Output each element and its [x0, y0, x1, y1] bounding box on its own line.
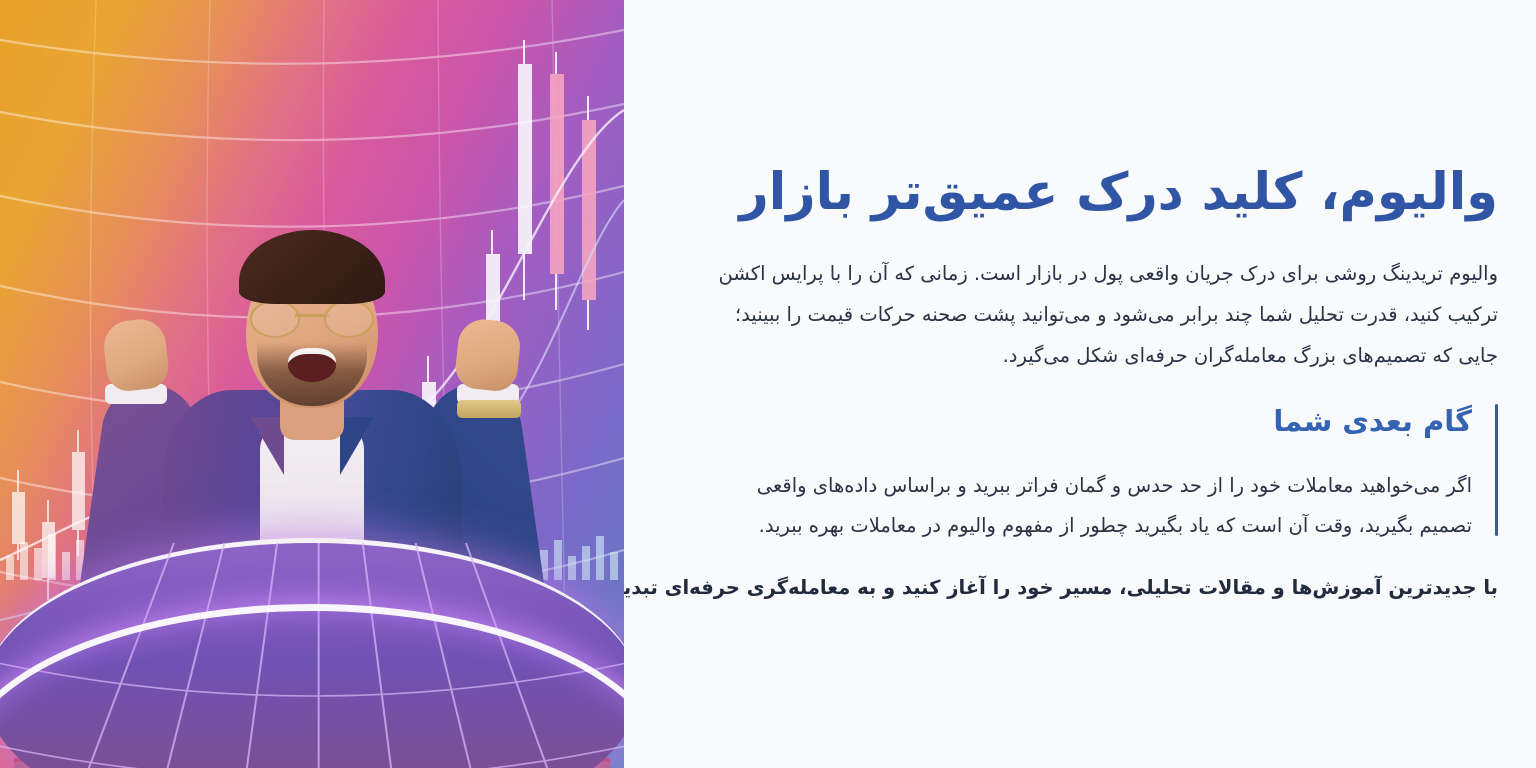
accent-bar — [1495, 404, 1498, 536]
hero-illustration — [0, 0, 624, 768]
neon-podium — [0, 508, 624, 768]
lead-paragraph: والیوم تریدینگ روشی برای درک جریان واقعی… — [712, 254, 1498, 376]
raised-fist-right — [454, 317, 523, 393]
jacket-lapel-left — [250, 417, 284, 475]
open-mouth — [288, 348, 336, 382]
next-step-block: گام بعدی شما اگر می‌خواهید معاملات خود ر… — [712, 400, 1498, 547]
cta-line: با جدیدترین آموزش‌ها و مقالات تحلیلی، مس… — [712, 569, 1498, 606]
lens-left — [250, 300, 300, 338]
lens-right — [324, 300, 374, 338]
hair — [239, 230, 385, 304]
page-title: والیوم، کلید درک عمیق‌تر بازار — [712, 162, 1498, 224]
body-paragraph: اگر می‌خواهید معاملات خود را از حد حدس و… — [712, 466, 1472, 547]
jacket-lapel-right — [340, 417, 374, 475]
article-text-panel: والیوم، کلید درک عمیق‌تر بازار والیوم تر… — [624, 0, 1536, 768]
hero-section: والیوم، کلید درک عمیق‌تر بازار والیوم تر… — [0, 0, 1536, 768]
section-subheading: گام بعدی شما — [712, 400, 1472, 444]
glasses-icon — [248, 300, 376, 334]
raised-fist-left — [102, 317, 171, 393]
wristwatch — [457, 400, 521, 418]
